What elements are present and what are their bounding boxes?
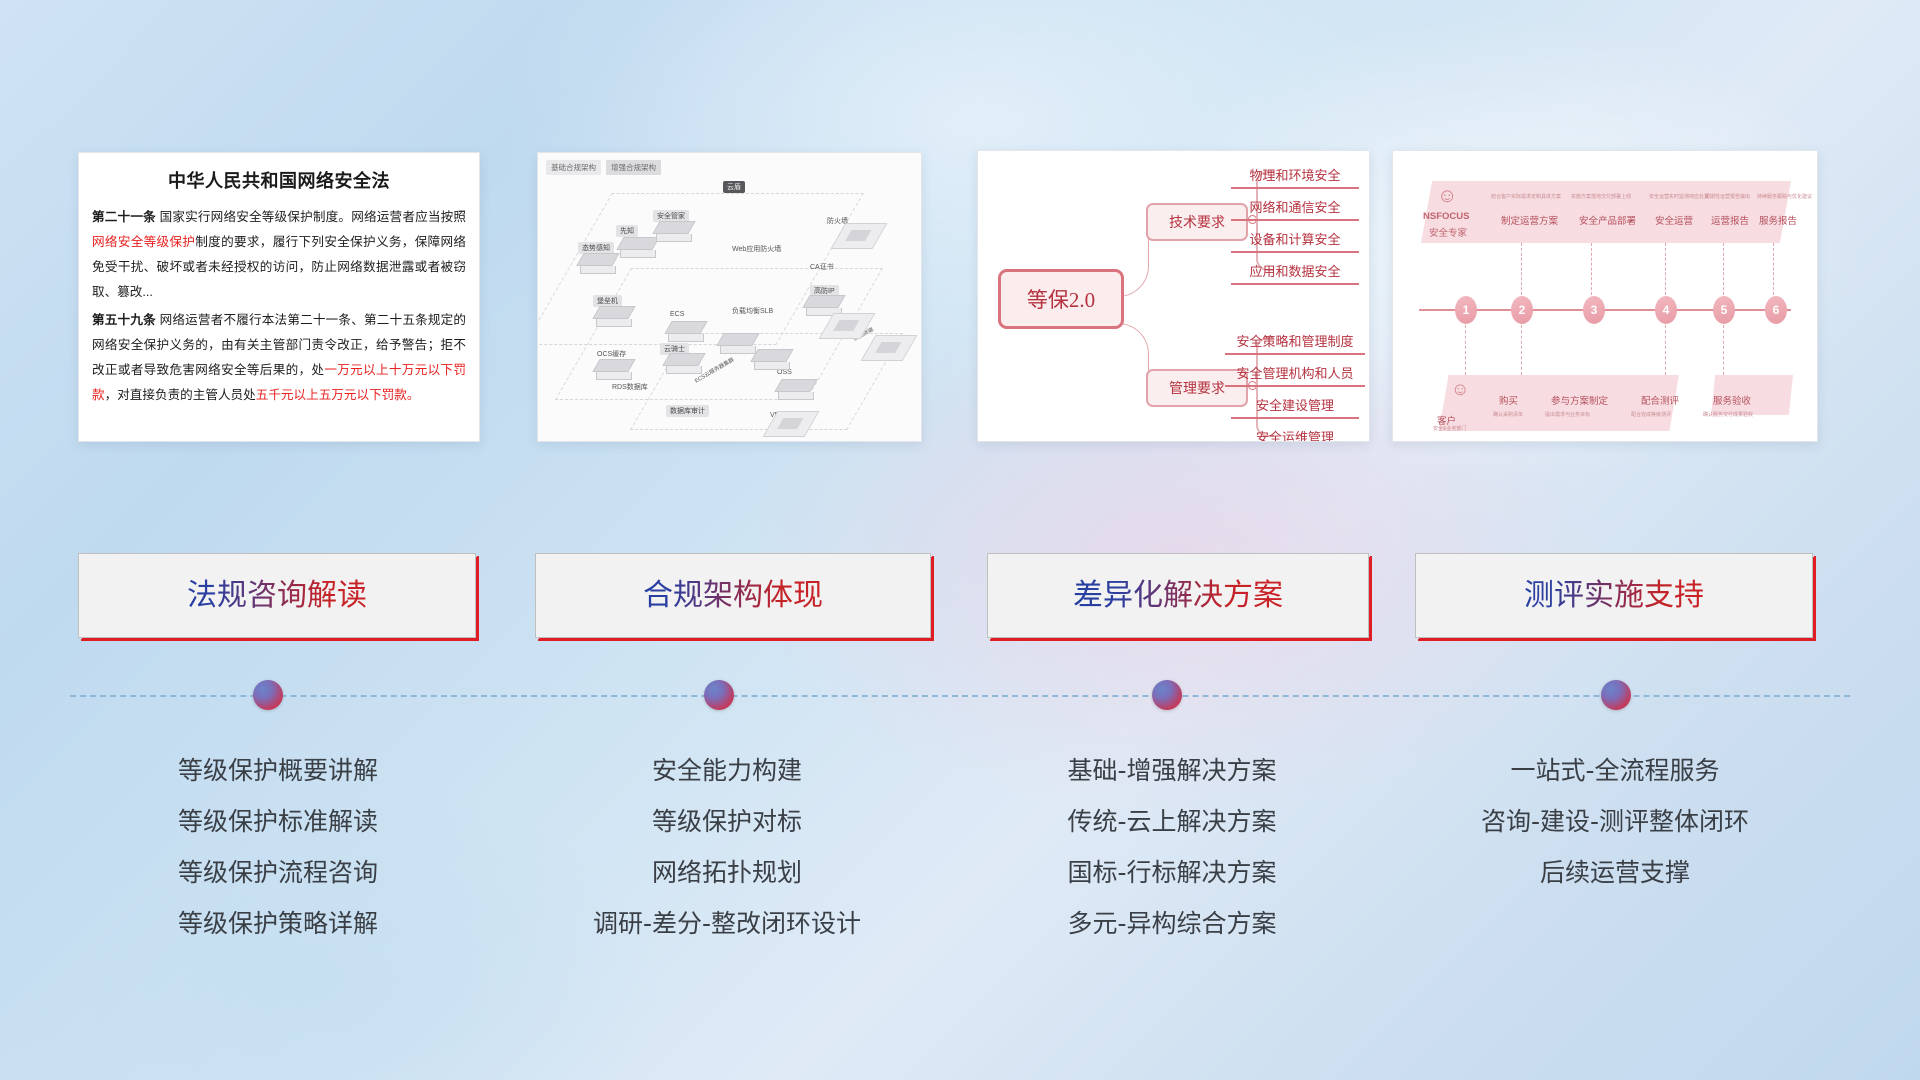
timeline-top-sub-4: 周期性运营报告输出 bbox=[1705, 193, 1750, 200]
list-item: 国标-行标解决方案 bbox=[962, 847, 1382, 898]
timeline-bottom-sub-4: 确认服务交付成果验收 bbox=[1703, 411, 1753, 418]
mindmap-leaf-construction: 安全建设管理 bbox=[1231, 391, 1359, 419]
architecture-tabs: 基础合规架构 增强合规架构 bbox=[546, 160, 661, 175]
slide-canvas: 中华人民共和国网络安全法 第二十一条 国家实行网络安全等级保护制度。网络运营者应… bbox=[0, 0, 1920, 1080]
timeline-dash-7 bbox=[1521, 325, 1523, 375]
mindmap-leaf-device: 设备和计算安全 bbox=[1231, 225, 1359, 253]
node-label-ca-cert: CA证书 bbox=[806, 261, 838, 273]
timeline-dash-2 bbox=[1591, 243, 1593, 295]
timeline-dash-9 bbox=[1723, 325, 1725, 375]
list-item: 安全能力构建 bbox=[512, 745, 942, 796]
list-item: 多元-异构综合方案 bbox=[962, 898, 1382, 949]
feature-list-3: 基础-增强解决方案 传统-云上解决方案 国标-行标解决方案 多元-异构综合方案 bbox=[962, 745, 1382, 949]
node-label-ecs: ECS bbox=[666, 310, 688, 319]
timeline-step-4[interactable]: 4 bbox=[1655, 296, 1677, 324]
timeline-top-sub-5: 持续服务跟踪与优化建议 bbox=[1757, 193, 1812, 200]
list-item: 等级保护流程咨询 bbox=[78, 847, 478, 898]
mindmap-leaf-physical: 物理和环境安全 bbox=[1231, 161, 1359, 189]
list-item: 咨询-建设-测评整体闭环 bbox=[1400, 796, 1830, 847]
timeline-top-sub-3: 安全运营实时监测响应处置 bbox=[1649, 193, 1709, 200]
mindmap-leaf-org: 安全管理机构和人员 bbox=[1225, 359, 1365, 387]
tab-enhanced-architecture[interactable]: 增强合规架构 bbox=[606, 160, 661, 175]
title-label-2: 合规架构体现 bbox=[536, 554, 930, 637]
title-label-4: 测评实施支持 bbox=[1416, 554, 1812, 637]
timeline-bottom-sub-2: 提出需求与业务目标 bbox=[1545, 411, 1590, 418]
list-item: 等级保护策略详解 bbox=[78, 898, 478, 949]
list-item: 一站式-全流程服务 bbox=[1400, 745, 1830, 796]
card-law-document: 中华人民共和国网络安全法 第二十一条 国家实行网络安全等级保护制度。网络运营者应… bbox=[78, 152, 480, 442]
timeline-brand: NSFOCUS bbox=[1423, 211, 1469, 222]
title-box-regulation-consulting[interactable]: 法规咨询解读 bbox=[78, 553, 476, 638]
timeline-step-5[interactable]: 5 bbox=[1713, 296, 1735, 324]
timeline-top-sub-1: 结合客户实际需求定制具体方案 bbox=[1491, 193, 1561, 200]
tab-basic-architecture[interactable]: 基础合规架构 bbox=[546, 160, 601, 175]
mindmap-leaf-policy: 安全策略和管理制度 bbox=[1225, 327, 1365, 355]
timeline-top-label-5: 服务报告 bbox=[1759, 213, 1797, 227]
node-label-slb: 负载均衡SLB bbox=[728, 305, 777, 317]
timeline-step-2[interactable]: 2 bbox=[1511, 296, 1533, 324]
card-service-timeline: ☺ NSFOCUS 安全专家 结合客户实际需求定制具体方案 制定运营方案 实施方… bbox=[1392, 150, 1818, 442]
law-article-21-label: 第二十一条 bbox=[92, 210, 156, 224]
node-label-cloud-shield: 云盾 bbox=[723, 181, 745, 193]
timeline-canvas: ☺ NSFOCUS 安全专家 结合客户实际需求定制具体方案 制定运营方案 实施方… bbox=[1393, 151, 1817, 441]
list-item: 网络拓扑规划 bbox=[512, 847, 942, 898]
timeline-dash-6 bbox=[1465, 325, 1467, 375]
title-box-compliance-architecture[interactable]: 合规架构体现 bbox=[535, 553, 931, 638]
milestone-dot-1[interactable] bbox=[253, 680, 283, 710]
timeline-dash-1 bbox=[1521, 243, 1523, 295]
node-label-prophet: 先知 bbox=[616, 225, 638, 237]
timeline-brand-sub: 安全专家 bbox=[1429, 225, 1467, 239]
feature-list-2: 安全能力构建 等级保护对标 网络拓扑规划 调研-差分-整改闭环设计 bbox=[512, 745, 942, 949]
node-label-db-audit: 数据库审计 bbox=[666, 405, 709, 417]
feature-list-1: 等级保护概要讲解 等级保护标准解读 等级保护流程咨询 等级保护策略详解 bbox=[78, 745, 478, 949]
timeline-top-label-2: 安全产品部署 bbox=[1579, 213, 1636, 227]
expert-icon: ☺ bbox=[1437, 185, 1457, 208]
mindmap-leaf-network: 网络和通信安全 bbox=[1231, 193, 1359, 221]
list-item: 等级保护标准解读 bbox=[78, 796, 478, 847]
mindmap-canvas: 等保2.0 技术要求 物理和环境安全 网络和通信安全 设备和计算安全 应用和数据… bbox=[978, 151, 1369, 441]
timeline-dash-4 bbox=[1723, 243, 1725, 295]
mindmap-curve-bottom bbox=[1118, 323, 1149, 389]
milestone-dot-2[interactable] bbox=[704, 680, 734, 710]
law-article-59-text-2: ，对直接负责的主管人员处 bbox=[105, 388, 256, 402]
mindmap-leaf-application: 应用和数据安全 bbox=[1231, 257, 1359, 285]
milestone-dot-3[interactable] bbox=[1152, 680, 1182, 710]
card-mindmap: 等保2.0 技术要求 物理和环境安全 网络和通信安全 设备和计算安全 应用和数据… bbox=[977, 150, 1370, 442]
timeline-top-label-4: 运营报告 bbox=[1711, 213, 1749, 227]
timeline-dash-8 bbox=[1665, 325, 1667, 375]
timeline-dash-3 bbox=[1665, 243, 1667, 295]
timeline-band-vendor bbox=[1421, 181, 1791, 243]
law-body: 第二十一条 国家实行网络安全等级保护制度。网络运营者应当按照网络安全等级保护制度… bbox=[79, 205, 479, 408]
law-article-21-highlight: 网络安全等级保护 bbox=[92, 235, 195, 249]
timeline-bottom-sub-3: 配合完成等级测评 bbox=[1631, 411, 1671, 418]
timeline-step-3[interactable]: 3 bbox=[1583, 296, 1605, 324]
law-article-59-label: 第五十九条 bbox=[92, 313, 156, 327]
customer-icon: ☺ bbox=[1451, 379, 1469, 400]
title-box-differentiated-solution[interactable]: 差异化解决方案 bbox=[987, 553, 1369, 638]
timeline-bottom-sub-1: 确认采购清单 bbox=[1493, 411, 1523, 418]
list-item: 基础-增强解决方案 bbox=[962, 745, 1382, 796]
law-article-21-text-1: 国家实行网络安全等级保护制度。网络运营者应当按照 bbox=[156, 210, 466, 224]
title-box-evaluation-support[interactable]: 测评实施支持 bbox=[1415, 553, 1813, 638]
timeline-bottom-label-1: 购买 bbox=[1499, 393, 1518, 407]
node-label-rds: RDS数据库 bbox=[608, 381, 652, 393]
law-article-59: 第五十九条 网络运营者不履行本法第二十一条、第二十五条规定的网络安全保护义务的，… bbox=[92, 308, 466, 408]
feature-list-4: 一站式-全流程服务 咨询-建设-测评整体闭环 后续运营支撑 bbox=[1400, 745, 1830, 898]
law-article-59-highlight-2: 五千元以上五万元以下罚款。 bbox=[256, 388, 420, 402]
list-item: 调研-差分-整改闭环设计 bbox=[512, 898, 942, 949]
timeline-step-1[interactable]: 1 bbox=[1455, 296, 1477, 324]
timeline-step-6[interactable]: 6 bbox=[1765, 296, 1787, 324]
mindmap-leaf-operation: 安全运维管理 bbox=[1231, 423, 1359, 442]
milestone-dot-4[interactable] bbox=[1601, 680, 1631, 710]
law-article-21: 第二十一条 国家实行网络安全等级保护制度。网络运营者应当按照网络安全等级保护制度… bbox=[92, 205, 466, 305]
timeline-connector bbox=[70, 695, 1850, 697]
law-title: 中华人民共和国网络安全法 bbox=[79, 167, 479, 193]
timeline-top-label-3: 安全运营 bbox=[1655, 213, 1693, 227]
timeline-top-sub-2: 实施方案落地交付部署上线 bbox=[1571, 193, 1631, 200]
timeline-bottom-label-4: 服务验收 bbox=[1713, 393, 1751, 407]
timeline-bottom-label-2: 参与方案制定 bbox=[1551, 393, 1608, 407]
timeline-dash-5 bbox=[1773, 243, 1775, 295]
architecture-canvas: 基础合规架构 增强合规架构 云盾 安全管家 先知 态势感知 堡垒机 ECS 负载… bbox=[538, 153, 921, 441]
mindmap-root-node: 等保2.0 bbox=[998, 269, 1124, 329]
list-item: 传统-云上解决方案 bbox=[962, 796, 1382, 847]
timeline-customer-sub: 安全&业务部门 bbox=[1433, 425, 1466, 432]
timeline-top-label-1: 制定运营方案 bbox=[1501, 213, 1558, 227]
title-label-3: 差异化解决方案 bbox=[988, 554, 1368, 637]
list-item: 后续运营支撑 bbox=[1400, 847, 1830, 898]
node-label-waf: Web应用防火墙 bbox=[728, 243, 785, 255]
timeline-bottom-label-3: 配合测评 bbox=[1641, 393, 1679, 407]
list-item: 等级保护概要讲解 bbox=[78, 745, 478, 796]
list-item: 等级保护对标 bbox=[512, 796, 942, 847]
card-architecture-diagram: 基础合规架构 增强合规架构 云盾 安全管家 先知 态势感知 堡垒机 ECS 负载… bbox=[537, 152, 922, 442]
title-label-1: 法规咨询解读 bbox=[79, 554, 475, 637]
